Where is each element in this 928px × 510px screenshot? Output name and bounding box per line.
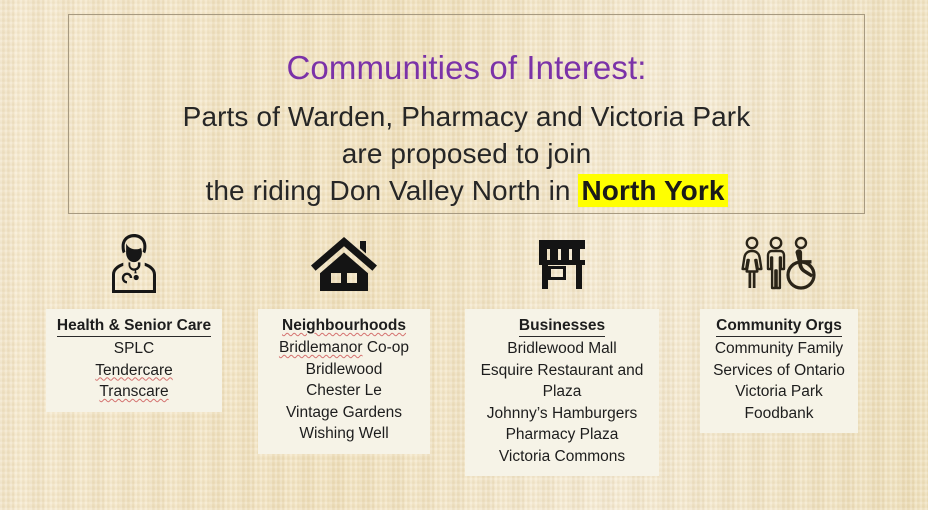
list-item: Transcare (54, 381, 214, 403)
list-item-text: Vintage Gardens (286, 404, 402, 421)
list-item-text: Community Family Services of Ontario (713, 340, 845, 379)
card-health-senior-care: Health & Senior Care SPLC Tendercare Tra… (46, 309, 222, 412)
list-item-text: Bridlewood (306, 361, 383, 378)
list-item: Bridlewood (266, 359, 422, 381)
accessibility-group-icon (700, 228, 858, 300)
card-title-row: Neighbourhoods (266, 315, 422, 337)
list-item: Esquire Restaurant and Plaza (473, 360, 651, 403)
list-item-text: Victoria Commons (499, 448, 625, 465)
house-icon (258, 228, 430, 300)
title-line-2: are proposed to join (69, 135, 864, 172)
card-title-row: Health & Senior Care (54, 315, 214, 338)
list-item: SPLC (54, 338, 214, 360)
card-title-row: Community Orgs (708, 315, 850, 338)
title-line-3: the riding Don Valley North in North Yor… (69, 172, 864, 209)
list-item-text: Esquire Restaurant and Plaza (481, 362, 644, 401)
page-title: Communities of Interest: (69, 15, 864, 84)
column-neighbourhoods: Neighbourhoods Bridlemanor Co-op Bridlew… (258, 228, 430, 454)
list-item-text: Bridlemanor (279, 339, 363, 356)
card-community-orgs: Community Orgs Community Family Services… (700, 309, 858, 433)
title-body: Parts of Warden, Pharmacy and Victoria P… (69, 98, 864, 209)
list-item: Victoria Commons (473, 446, 651, 468)
list-item: Bridlewood Mall (473, 338, 651, 360)
highlighted-riding-name: North York (578, 174, 727, 207)
list-item: Community Family Services of Ontario (708, 338, 850, 381)
list-item: Tendercare (54, 360, 214, 382)
nurse-icon (46, 228, 222, 300)
list-item-text: Johnny’s Hamburgers (487, 405, 637, 422)
list-item-text: Pharmacy Plaza (506, 426, 619, 443)
list-item: Wishing Well (266, 423, 422, 445)
title-box: Communities of Interest: Parts of Warden… (68, 14, 865, 214)
card-title-health-senior-care: Health & Senior Care (57, 316, 211, 337)
column-health-senior-care: Health & Senior Care SPLC Tendercare Tra… (46, 228, 222, 412)
list-item-text: Bridlewood Mall (507, 340, 616, 357)
card-neighbourhoods: Neighbourhoods Bridlemanor Co-op Bridlew… (258, 309, 430, 454)
card-title-row: Businesses (473, 315, 651, 338)
card-title-community-orgs: Community Orgs (716, 316, 842, 337)
card-businesses: Businesses Bridlewood Mall Esquire Resta… (465, 309, 659, 476)
list-item-text: Victoria Park Foodbank (735, 383, 823, 422)
card-title-neighbourhoods: Neighbourhoods (282, 316, 406, 336)
slide-canvas: Communities of Interest: Parts of Warden… (0, 0, 928, 510)
list-item: Johnny’s Hamburgers (473, 403, 651, 425)
list-item: Victoria Park Foodbank (708, 381, 850, 424)
list-item-text: Transcare (99, 383, 168, 400)
title-line-3-prefix: the riding Don Valley North in (205, 175, 578, 206)
list-item-text: Wishing Well (299, 425, 388, 442)
list-item-text: SPLC (114, 340, 155, 357)
title-line-1: Parts of Warden, Pharmacy and Victoria P… (69, 98, 864, 135)
list-item: Bridlemanor Co-op (266, 337, 422, 359)
column-businesses: Businesses Bridlewood Mall Esquire Resta… (465, 228, 659, 476)
list-item-text: Chester Le (306, 382, 382, 399)
list-item: Chester Le (266, 380, 422, 402)
storefront-icon (465, 228, 659, 300)
list-item: Pharmacy Plaza (473, 424, 651, 446)
list-item-text: Tendercare (95, 362, 173, 379)
list-item: Vintage Gardens (266, 402, 422, 424)
list-item-suffix: Co-op (363, 339, 410, 356)
column-community-orgs: Community Orgs Community Family Services… (700, 228, 858, 433)
card-title-businesses: Businesses (519, 316, 605, 337)
